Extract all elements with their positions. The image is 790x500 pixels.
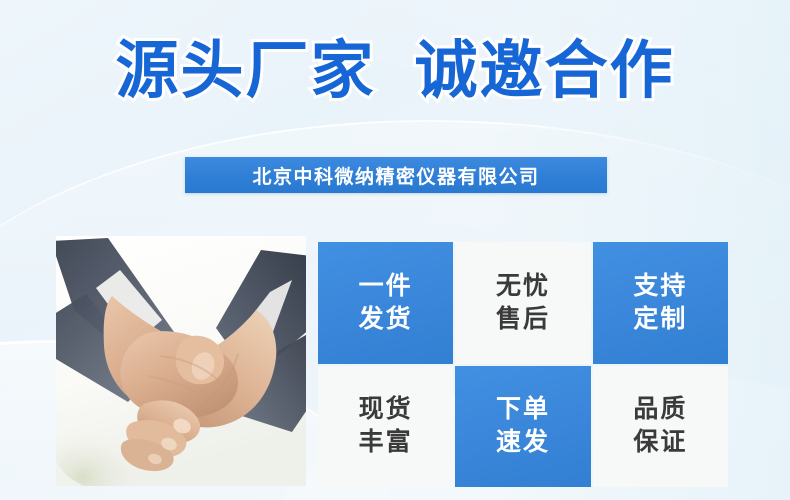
- company-name-text: 北京中科微纳精密仪器有限公司: [252, 162, 539, 189]
- feature-tile-4: 现货 丰富: [318, 366, 453, 488]
- feature-tile-3: 支持 定制: [593, 242, 728, 364]
- company-name-bar: 北京中科微纳精密仪器有限公司: [185, 157, 607, 193]
- feature-tile-6-line2: 保证: [633, 426, 687, 459]
- feature-tile-1-line2: 发货: [359, 303, 413, 336]
- promo-banner: 源头厂家 诚邀合作 北京中科微纳精密仪器有限公司: [0, 0, 790, 500]
- feature-tile-1: 一件 发货: [318, 242, 453, 364]
- feature-tile-4-line1: 现货: [359, 393, 413, 426]
- feature-tile-5-line2: 速发: [496, 426, 550, 459]
- feature-tile-2-line2: 售后: [496, 303, 550, 336]
- handshake-photo: [56, 236, 306, 486]
- feature-tile-6-line1: 品质: [633, 393, 687, 426]
- feature-tile-4-line2: 丰富: [359, 426, 413, 459]
- feature-grid: 一件 发货 无忧 售后 支持 定制 现货 丰富 下单 速发 品质 保证: [318, 242, 728, 487]
- feature-tile-2-line1: 无忧: [496, 270, 550, 303]
- feature-tile-3-line2: 定制: [633, 303, 687, 336]
- feature-tile-2: 无忧 售后: [455, 242, 590, 364]
- feature-tile-5-line1: 下单: [496, 393, 550, 426]
- feature-tile-5: 下单 速发: [455, 366, 590, 488]
- feature-tile-1-line1: 一件: [359, 270, 413, 303]
- feature-tile-6: 品质 保证: [593, 366, 728, 488]
- feature-tile-3-line1: 支持: [633, 270, 687, 303]
- page-title: 源头厂家 诚邀合作: [0, 38, 790, 104]
